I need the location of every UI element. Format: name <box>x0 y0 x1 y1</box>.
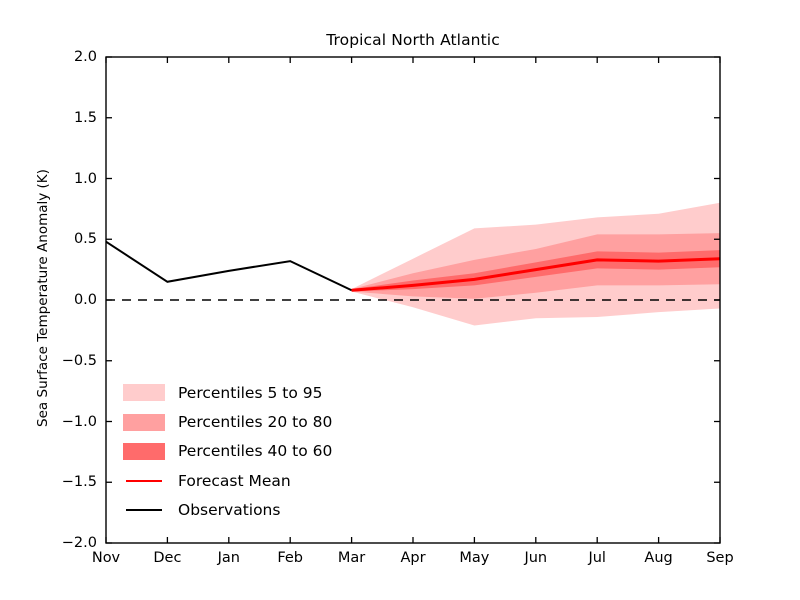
x-tick-label: Apr <box>400 550 425 566</box>
legend-key <box>118 437 170 466</box>
x-tick-label: Mar <box>338 550 365 566</box>
legend-label: Percentiles 20 to 80 <box>170 413 332 431</box>
legend-label: Percentiles 5 to 95 <box>170 384 322 402</box>
chart-figure: Tropical North Atlantic Sea Surface Temp… <box>0 0 800 600</box>
legend-swatch-icon <box>123 414 165 431</box>
legend-key <box>118 496 170 525</box>
legend-line-icon <box>126 509 162 511</box>
x-tick-label: May <box>459 550 489 566</box>
legend-label: Forecast Mean <box>170 472 291 490</box>
x-tick-label: Jun <box>524 550 547 566</box>
percentile-bands <box>352 203 720 326</box>
y-tick-label: −1.0 <box>35 414 97 430</box>
y-tick-label: −0.5 <box>35 353 97 369</box>
x-tick-label: Sep <box>706 550 733 566</box>
y-tick-label: 1.5 <box>35 110 97 126</box>
line-observations <box>106 242 352 291</box>
x-tick-label: Feb <box>277 550 303 566</box>
x-tick-label: Aug <box>644 550 672 566</box>
y-tick-label: −2.0 <box>35 535 97 551</box>
x-tick-label: Jan <box>218 550 240 566</box>
legend-item: Observations <box>118 496 332 525</box>
x-tick-label: Dec <box>153 550 181 566</box>
legend-swatch-icon <box>123 384 165 401</box>
x-tick-label: Jul <box>588 550 606 566</box>
legend-swatch-icon <box>123 443 165 460</box>
legend-item: Percentiles 40 to 60 <box>118 437 332 466</box>
legend-key <box>118 407 170 436</box>
legend-item: Percentiles 5 to 95 <box>118 378 332 407</box>
legend-label: Observations <box>170 501 280 519</box>
legend-key <box>118 466 170 495</box>
legend-key <box>118 378 170 407</box>
chart-title: Tropical North Atlantic <box>106 31 720 49</box>
y-tick-label: 1.0 <box>35 171 97 187</box>
x-tick-label: Nov <box>92 550 120 566</box>
legend-item: Percentiles 20 to 80 <box>118 407 332 436</box>
y-tick-label: 0.5 <box>35 231 97 247</box>
legend-line-icon <box>126 480 162 482</box>
legend-item: Forecast Mean <box>118 466 332 495</box>
chart-legend: Percentiles 5 to 95Percentiles 20 to 80P… <box>118 378 332 525</box>
legend-label: Percentiles 40 to 60 <box>170 442 332 460</box>
y-tick-label: 2.0 <box>35 49 97 65</box>
y-tick-label: 0.0 <box>35 292 97 308</box>
y-tick-label: −1.5 <box>35 474 97 490</box>
